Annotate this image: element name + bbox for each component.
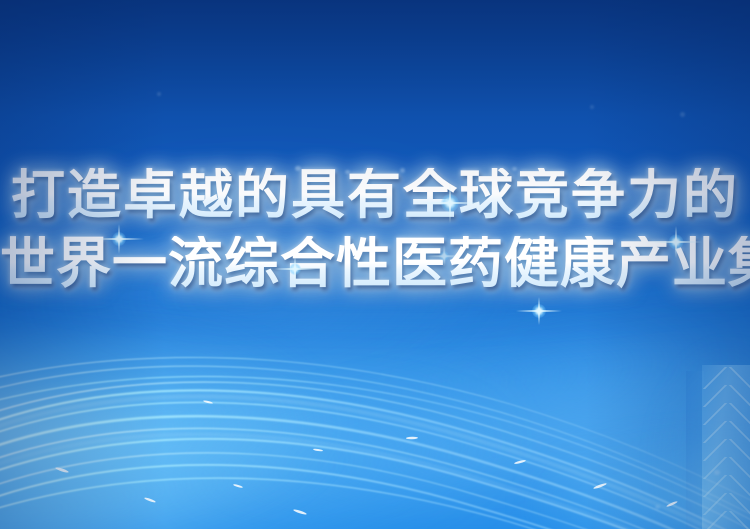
background-vignette — [0, 0, 750, 529]
hero-banner: 打造卓越的具有全球竞争力的 世界一流综合性医药健康产业集团 — [0, 0, 750, 529]
